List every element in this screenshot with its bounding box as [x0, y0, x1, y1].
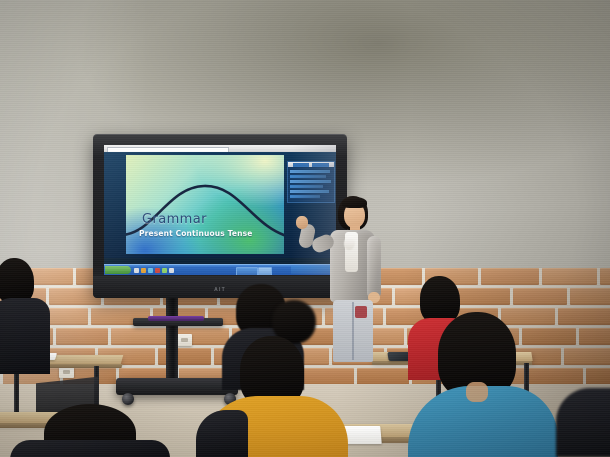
taskbar-icon[interactable] — [148, 268, 153, 273]
classroom-photo: Grammar Present Continuous Tense — [0, 0, 610, 457]
windows-taskbar[interactable] — [104, 264, 336, 275]
wall-outlet — [177, 334, 192, 346]
panel-tab-button[interactable] — [293, 163, 309, 167]
taskbar-window-button-active[interactable] — [258, 267, 272, 276]
student-neck — [466, 382, 488, 402]
teacher-jeans-seam — [352, 302, 354, 360]
panel-list-row[interactable] — [290, 195, 320, 198]
panel-tab-button[interactable] — [312, 163, 329, 167]
taskbar-icon[interactable] — [141, 268, 146, 273]
stand-caster — [122, 393, 134, 405]
student-head — [420, 276, 460, 324]
slide-subtitle: Present Continuous Tense — [139, 229, 252, 238]
student-torso — [10, 440, 170, 457]
taskbar-window-button[interactable] — [236, 267, 258, 276]
slide-title: Grammar — [142, 212, 207, 227]
display-screen[interactable]: Grammar Present Continuous Tense — [104, 145, 336, 275]
student-torso — [556, 388, 610, 457]
interactive-display[interactable]: Grammar Present Continuous Tense — [93, 134, 347, 298]
display-bezel-bottom: AIT — [93, 276, 347, 298]
remote-control[interactable] — [148, 316, 204, 321]
system-tray[interactable] — [291, 266, 335, 274]
display-stand-column — [166, 298, 178, 390]
student-torso — [0, 298, 50, 374]
teacher-fringe — [342, 197, 367, 208]
taskbar-icon[interactable] — [162, 268, 167, 273]
display-brand-logo: AIT — [214, 287, 226, 293]
taskbar-icon[interactable] — [155, 268, 160, 273]
taskbar-icon[interactable] — [134, 268, 139, 273]
start-button[interactable] — [105, 266, 131, 274]
app-side-panel[interactable] — [287, 161, 335, 203]
display-stand-base — [116, 378, 238, 395]
panel-list-row[interactable] — [290, 190, 329, 193]
panel-list-row[interactable] — [290, 185, 323, 188]
taskbar-icon[interactable] — [169, 268, 174, 273]
teacher-fist — [296, 216, 308, 229]
panel-list-row[interactable] — [290, 175, 326, 178]
teacher-arm-right — [367, 236, 381, 298]
presentation-slide: Grammar Present Continuous Tense — [126, 155, 284, 254]
panel-list-row[interactable] — [290, 170, 330, 173]
notebook-paper — [342, 426, 382, 444]
panel-list-row[interactable] — [290, 180, 331, 183]
teacher-jeans-detail — [355, 306, 367, 318]
wall-shadow-right — [410, 0, 610, 272]
